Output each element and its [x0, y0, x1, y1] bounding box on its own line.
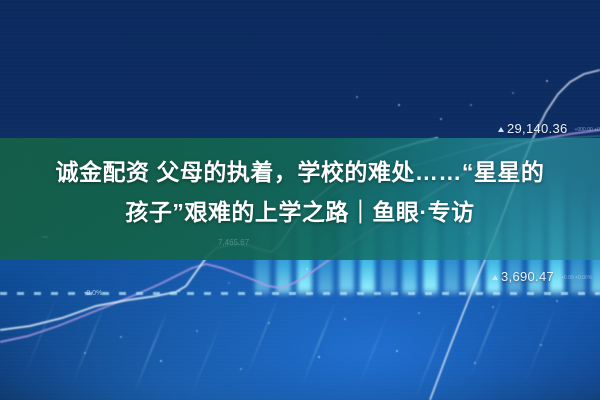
article-thumbnail: 7,465.67 诚金配资 父母的执着，学校的难处……“星星的 孩子”艰难的上学… — [0, 0, 600, 400]
sparkle-dot — [396, 350, 398, 352]
title-line-2: 孩子”艰难的上学之路｜鱼眼·专访 — [12, 192, 588, 232]
article-title: 诚金配资 父母的执着，学校的难处……“星星的 孩子”艰难的上学之路｜鱼眼·专访 — [0, 152, 600, 232]
light-streak — [355, 309, 390, 393]
sparkle-dot — [512, 92, 514, 94]
light-streak — [523, 301, 558, 385]
index-change-upper: +000.00 +0.00% — [575, 127, 600, 133]
sparkle-dot — [356, 96, 358, 98]
sparkle-dot — [84, 352, 86, 354]
title-line-1: 诚金配资 父母的执着，学校的难处……“星星的 — [12, 152, 588, 192]
light-streak — [133, 309, 168, 393]
sparkle-dot — [474, 362, 476, 364]
sparkle-dot — [344, 318, 346, 320]
sparkle-dot — [492, 306, 494, 308]
light-streak — [188, 317, 223, 400]
sparkle-dot — [546, 80, 548, 82]
ghost-tag — [42, 236, 48, 238]
sparkle-dot — [318, 356, 320, 358]
triangle-up-icon — [498, 127, 504, 132]
sparkle-dot — [306, 268, 308, 270]
diagonal-light-streaks — [0, 300, 600, 400]
index-value-upper: 29,140.36 — [507, 121, 568, 136]
faded-value-mid: 7,465.67 — [218, 238, 249, 247]
index-value-lower: 3,690.47 — [501, 269, 554, 284]
light-streak — [301, 301, 336, 385]
sparkle-dot — [418, 312, 420, 314]
sparkle-dot — [178, 290, 180, 292]
sparkle-dot — [556, 300, 558, 302]
light-streak — [413, 317, 448, 400]
sparkle-dot — [398, 104, 400, 106]
triangle-up-icon — [492, 275, 498, 280]
index-change-lower: +0.00 +0.00% — [561, 275, 592, 281]
sparkle-dot — [196, 330, 198, 332]
index-value-upper-label: 29,140.36+000.00 +0.00% — [498, 120, 600, 138]
sparkle-dot — [540, 344, 542, 346]
sparkle-dot — [268, 322, 270, 324]
sparkle-dot — [120, 336, 122, 338]
sparkle-dot — [440, 118, 442, 120]
sparkle-dot — [160, 360, 162, 362]
sparkle-dot — [470, 104, 472, 106]
index-value-lower-label: 3,690.47+0.00 +0.00% — [492, 268, 592, 286]
light-streak — [71, 301, 106, 385]
light-streak — [23, 300, 58, 377]
light-streak — [469, 300, 504, 377]
sparkle-dot — [240, 368, 242, 370]
sparkle-dot — [228, 282, 230, 284]
light-streak — [245, 300, 280, 377]
percent-left-annotation: -0.0% — [84, 290, 102, 297]
